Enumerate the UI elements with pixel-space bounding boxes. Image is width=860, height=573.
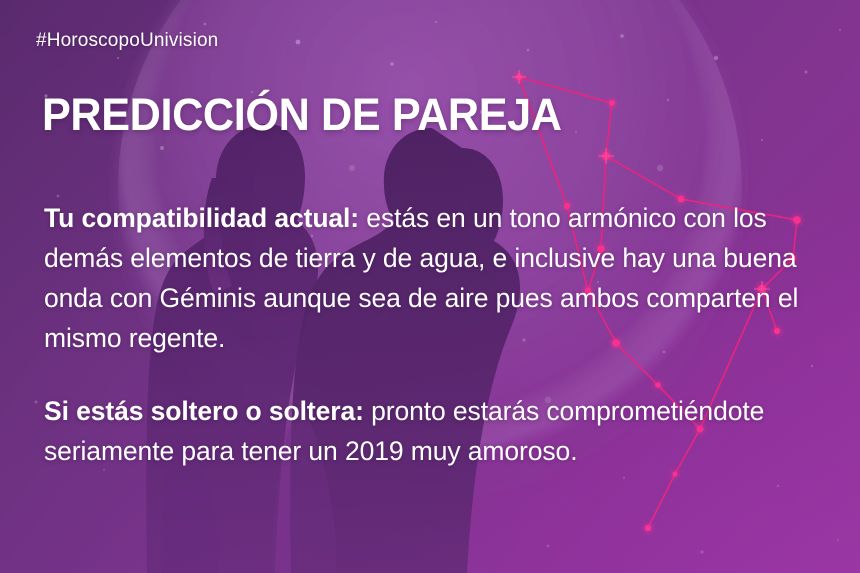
paragraph-compatibility: Tu compatibilidad actual: estás en un to… — [44, 198, 824, 358]
horoscope-card: #HoroscopoUnivision PREDICCIÓN DE PAREJA… — [0, 0, 860, 573]
body-text: Tu compatibilidad actual: estás en un to… — [44, 198, 824, 471]
paragraph-single-lead: Si estás soltero o soltera: — [44, 396, 364, 426]
page-title: PREDICCIÓN DE PAREJA — [42, 92, 562, 137]
paragraph-compatibility-lead: Tu compatibilidad actual: — [44, 203, 359, 233]
hashtag-label: #HoroscopoUnivision — [36, 30, 218, 52]
paragraph-single: Si estás soltero o soltera: pronto estar… — [44, 391, 824, 471]
content-layer: #HoroscopoUnivision PREDICCIÓN DE PAREJA… — [0, 0, 860, 573]
